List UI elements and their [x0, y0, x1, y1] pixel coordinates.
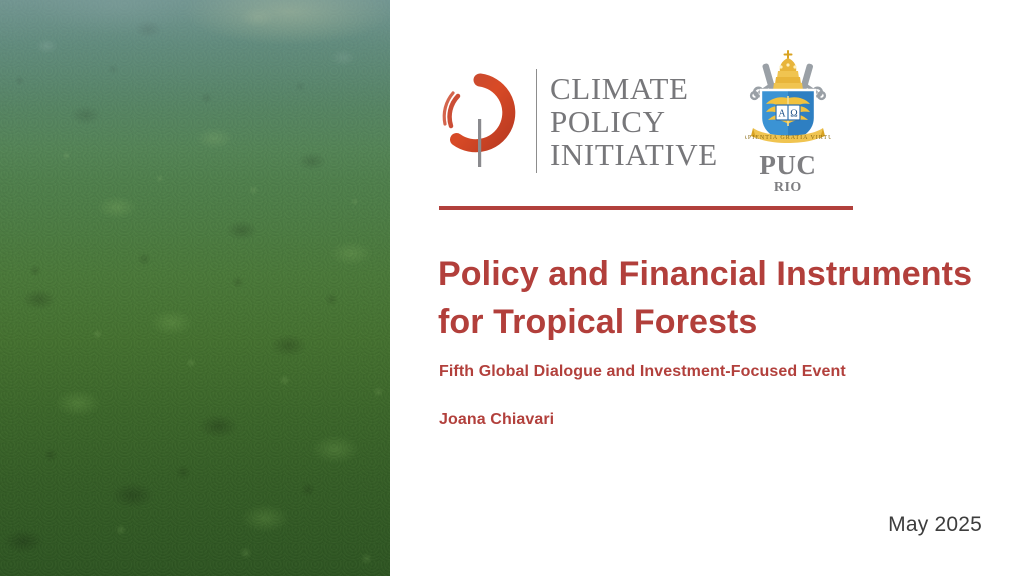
canopy-atmospheric-haze [0, 0, 390, 576]
slide-subtitle: Fifth Global Dialogue and Investment-Foc… [439, 363, 846, 381]
cpi-wordmark: CLIMATE POLICY INITIATIVE [550, 72, 718, 171]
cpi-word-policy: POLICY [550, 105, 718, 138]
puc-rio-wordmark: RIO [774, 180, 802, 195]
climate-policy-initiative-logo: CLIMATE POLICY INITIATIVE [434, 64, 718, 179]
logo-row: CLIMATE POLICY INITIATIVE [434, 50, 836, 192]
slide-title: Policy and Financial Instruments for Tro… [438, 250, 998, 346]
svg-text:A: A [778, 108, 786, 119]
puc-rio-crest-icon: A Ω SAPIENTIA GRATIA VIRTUS [745, 48, 831, 152]
title-rule-divider [439, 206, 853, 210]
cpi-word-climate: CLIMATE [550, 72, 718, 105]
svg-text:Ω: Ω [790, 108, 797, 119]
cpi-word-initiative: INITIATIVE [550, 138, 718, 171]
cpi-ring-icon [434, 72, 526, 170]
slide-date: May 2025 [888, 513, 982, 537]
forest-canopy-photo [0, 0, 390, 576]
slide-author: Joana Chiavari [439, 411, 554, 429]
puc-wordmark: PUC [759, 153, 816, 178]
svg-text:SAPIENTIA GRATIA VIRTUS: SAPIENTIA GRATIA VIRTUS [745, 135, 831, 141]
puc-rio-logo: A Ω SAPIENTIA GRATIA VIRTUS PUC RIO [740, 48, 836, 195]
logo-divider [536, 69, 537, 173]
slide-content: CLIMATE POLICY INITIATIVE [390, 0, 1024, 576]
title-slide: CLIMATE POLICY INITIATIVE [0, 0, 1024, 576]
